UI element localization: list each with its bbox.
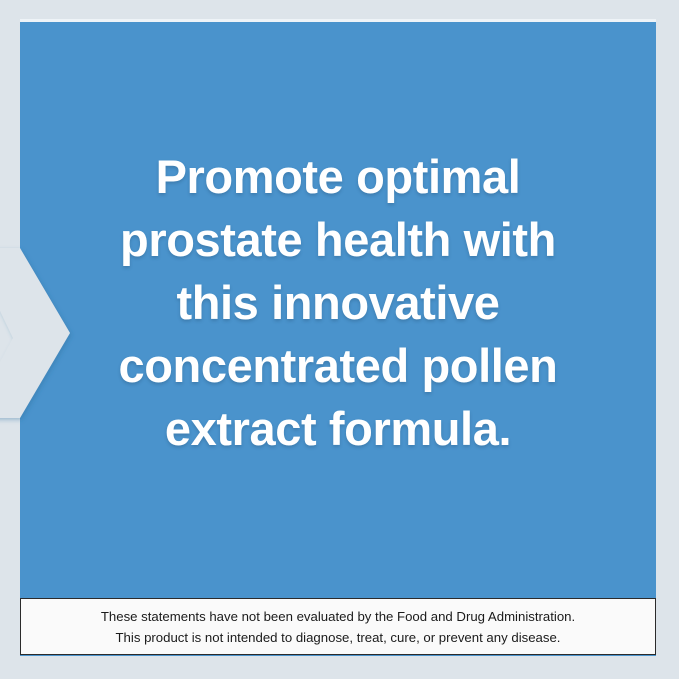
product-marketing-panel: Promote optimal prostate health with thi… <box>0 0 679 679</box>
headline-line: Promote optimal <box>20 145 656 208</box>
headline-line: prostate health with <box>20 208 656 271</box>
headline-line: concentrated pollen <box>20 334 656 397</box>
disclaimer-line: This product is not intended to diagnose… <box>116 627 561 648</box>
headline-line: extract formula. <box>20 397 656 460</box>
page-title: Promote optimal prostate health with thi… <box>20 145 656 460</box>
disclaimer-line: These statements have not been evaluated… <box>101 606 575 627</box>
headline-line: this innovative <box>20 271 656 334</box>
fda-disclaimer-box: These statements have not been evaluated… <box>20 598 656 655</box>
